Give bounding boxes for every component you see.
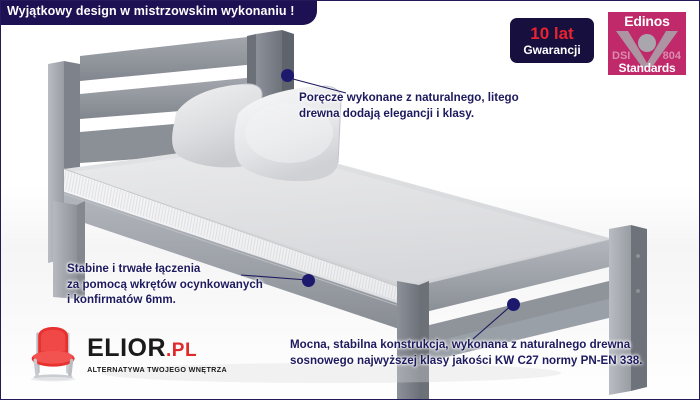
callout-dot-construction (507, 298, 520, 311)
header-title: Wyjątkowy design w mistrzowskim wykonani… (7, 4, 294, 18)
edinos-badge: Edinos DSI 804 Standards (608, 12, 686, 75)
logo-domain: .PL (166, 338, 197, 364)
edinos-standards: Standards (608, 61, 686, 75)
callout-dot-joints (302, 274, 315, 287)
logo-name: ELIOR (87, 335, 166, 361)
callout-dot-headboard (281, 69, 294, 82)
warranty-badge: 10 lat Gwarancji (510, 18, 594, 63)
warranty-label: Gwarancji (523, 43, 580, 57)
chair-icon (27, 323, 81, 385)
edinos-brand: Edinos (608, 13, 686, 29)
warranty-years: 10 lat (530, 25, 573, 43)
logo-tagline: ALTERNATYWA TWOJEGO WNĘTRZA (87, 365, 227, 374)
product-infographic: Wyjątkowy design w mistrzowskim wykonani… (0, 0, 700, 400)
elior-logo[interactable]: ELIOR .PL ALTERNATYWA TWOJEGO WNĘTRZA (27, 319, 227, 389)
header-banner: Wyjątkowy design w mistrzowskim wykonani… (0, 0, 317, 25)
